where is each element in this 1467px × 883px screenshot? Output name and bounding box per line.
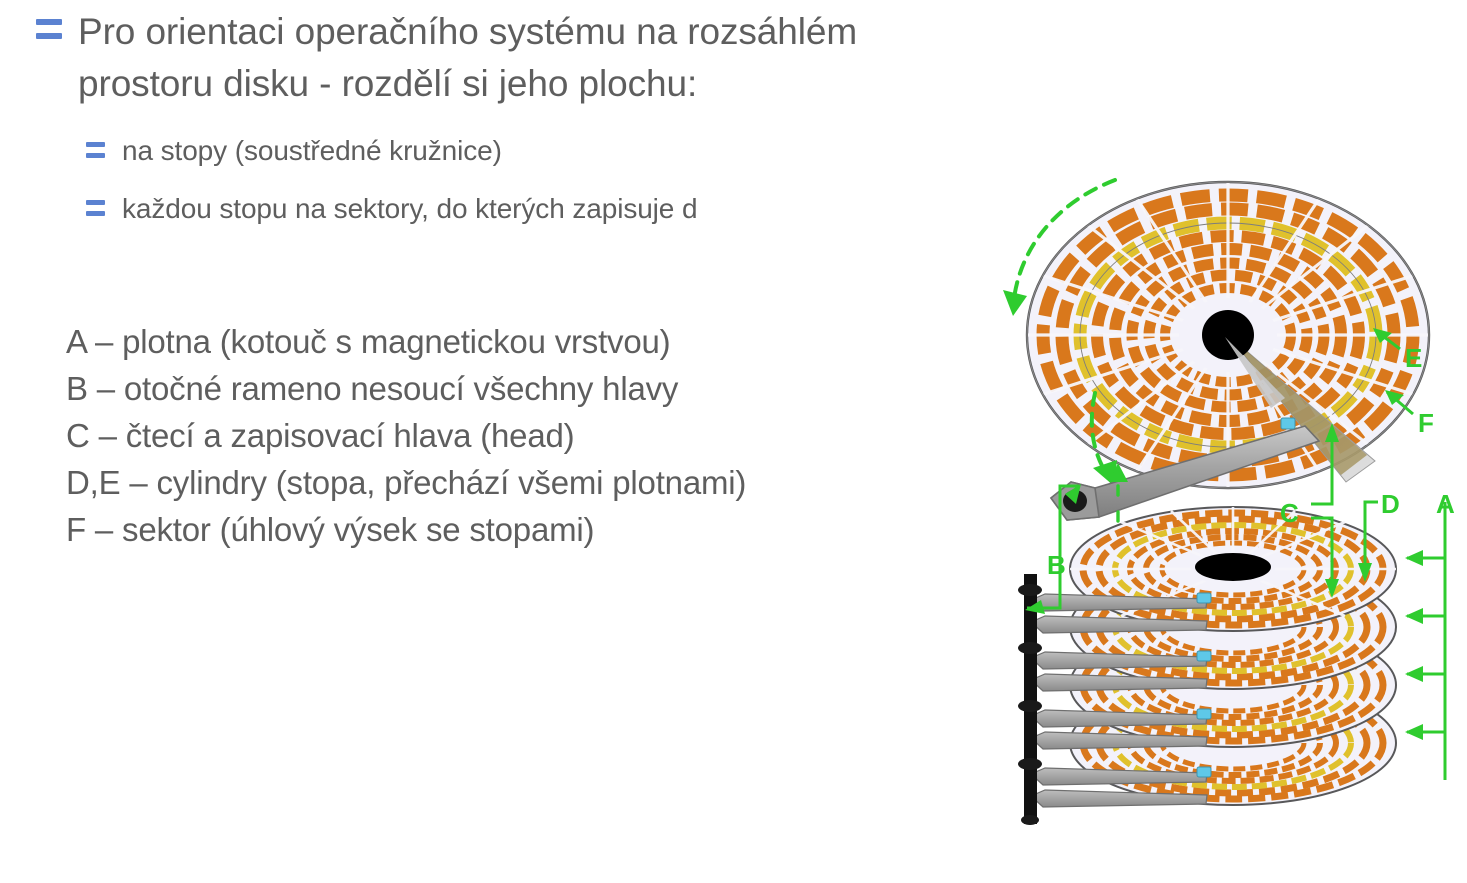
legend-list: A – plotna (kotouč s magnetickou vrstvou… bbox=[66, 318, 1026, 553]
read-write-head-icon bbox=[1197, 767, 1211, 777]
callout-label-b: B bbox=[1047, 550, 1066, 580]
bullet-level1-text: Pro orientaci operačního systému na rozs… bbox=[78, 6, 996, 110]
bullet-level2-text: na stopy (soustředné kružnice) bbox=[122, 131, 502, 171]
bullet-level2-sectors: každou stopu na sektory, do kterých zapi… bbox=[86, 189, 986, 229]
platter-stack bbox=[1018, 507, 1396, 825]
legend-line-c: C – čtecí a zapisovací hlava (head) bbox=[66, 412, 1026, 459]
slide-root: Pro orientaci operačního systému na rozs… bbox=[0, 0, 1467, 883]
legend-line-f: F – sektor (úhlový výsek se stopami) bbox=[66, 506, 1026, 553]
bullet-level1: Pro orientaci operačního systému na rozs… bbox=[36, 6, 996, 110]
platter-1 bbox=[1070, 507, 1396, 631]
equals-marker-icon bbox=[86, 131, 105, 158]
callout-label-c: C bbox=[1280, 498, 1299, 528]
stack-hub bbox=[1195, 553, 1271, 581]
callout-label-e: E bbox=[1405, 343, 1422, 373]
callout-label-a: A bbox=[1436, 489, 1455, 519]
read-write-head-icon bbox=[1197, 709, 1211, 719]
read-write-head-icon bbox=[1281, 418, 1295, 429]
callout-label-d: D bbox=[1381, 489, 1400, 519]
legend-line-b: B – otočné rameno nesoucí všechny hlavy bbox=[66, 365, 1026, 412]
text-column: Pro orientaci operačního systému na rozs… bbox=[0, 0, 1040, 883]
rotation-arrowhead-icon bbox=[1003, 290, 1027, 316]
hard-disk-diagram: E F C D A B bbox=[975, 130, 1467, 883]
legend-line-a: A – plotna (kotouč s magnetickou vrstvou… bbox=[66, 318, 1026, 365]
read-write-head-icon bbox=[1197, 593, 1211, 603]
read-write-head-icon bbox=[1197, 651, 1211, 661]
legend-line-de: D,E – cylindry (stopa, přechází všemi pl… bbox=[66, 459, 1026, 506]
callout-label-f: F bbox=[1418, 408, 1434, 438]
bullet-level2-text: každou stopu na sektory, do kterých zapi… bbox=[122, 189, 697, 229]
equals-marker-icon bbox=[86, 189, 105, 216]
bullet-level2-tracks: na stopy (soustředné kružnice) bbox=[86, 131, 986, 171]
equals-marker-icon bbox=[36, 6, 62, 39]
spindle-hub bbox=[1202, 310, 1254, 360]
